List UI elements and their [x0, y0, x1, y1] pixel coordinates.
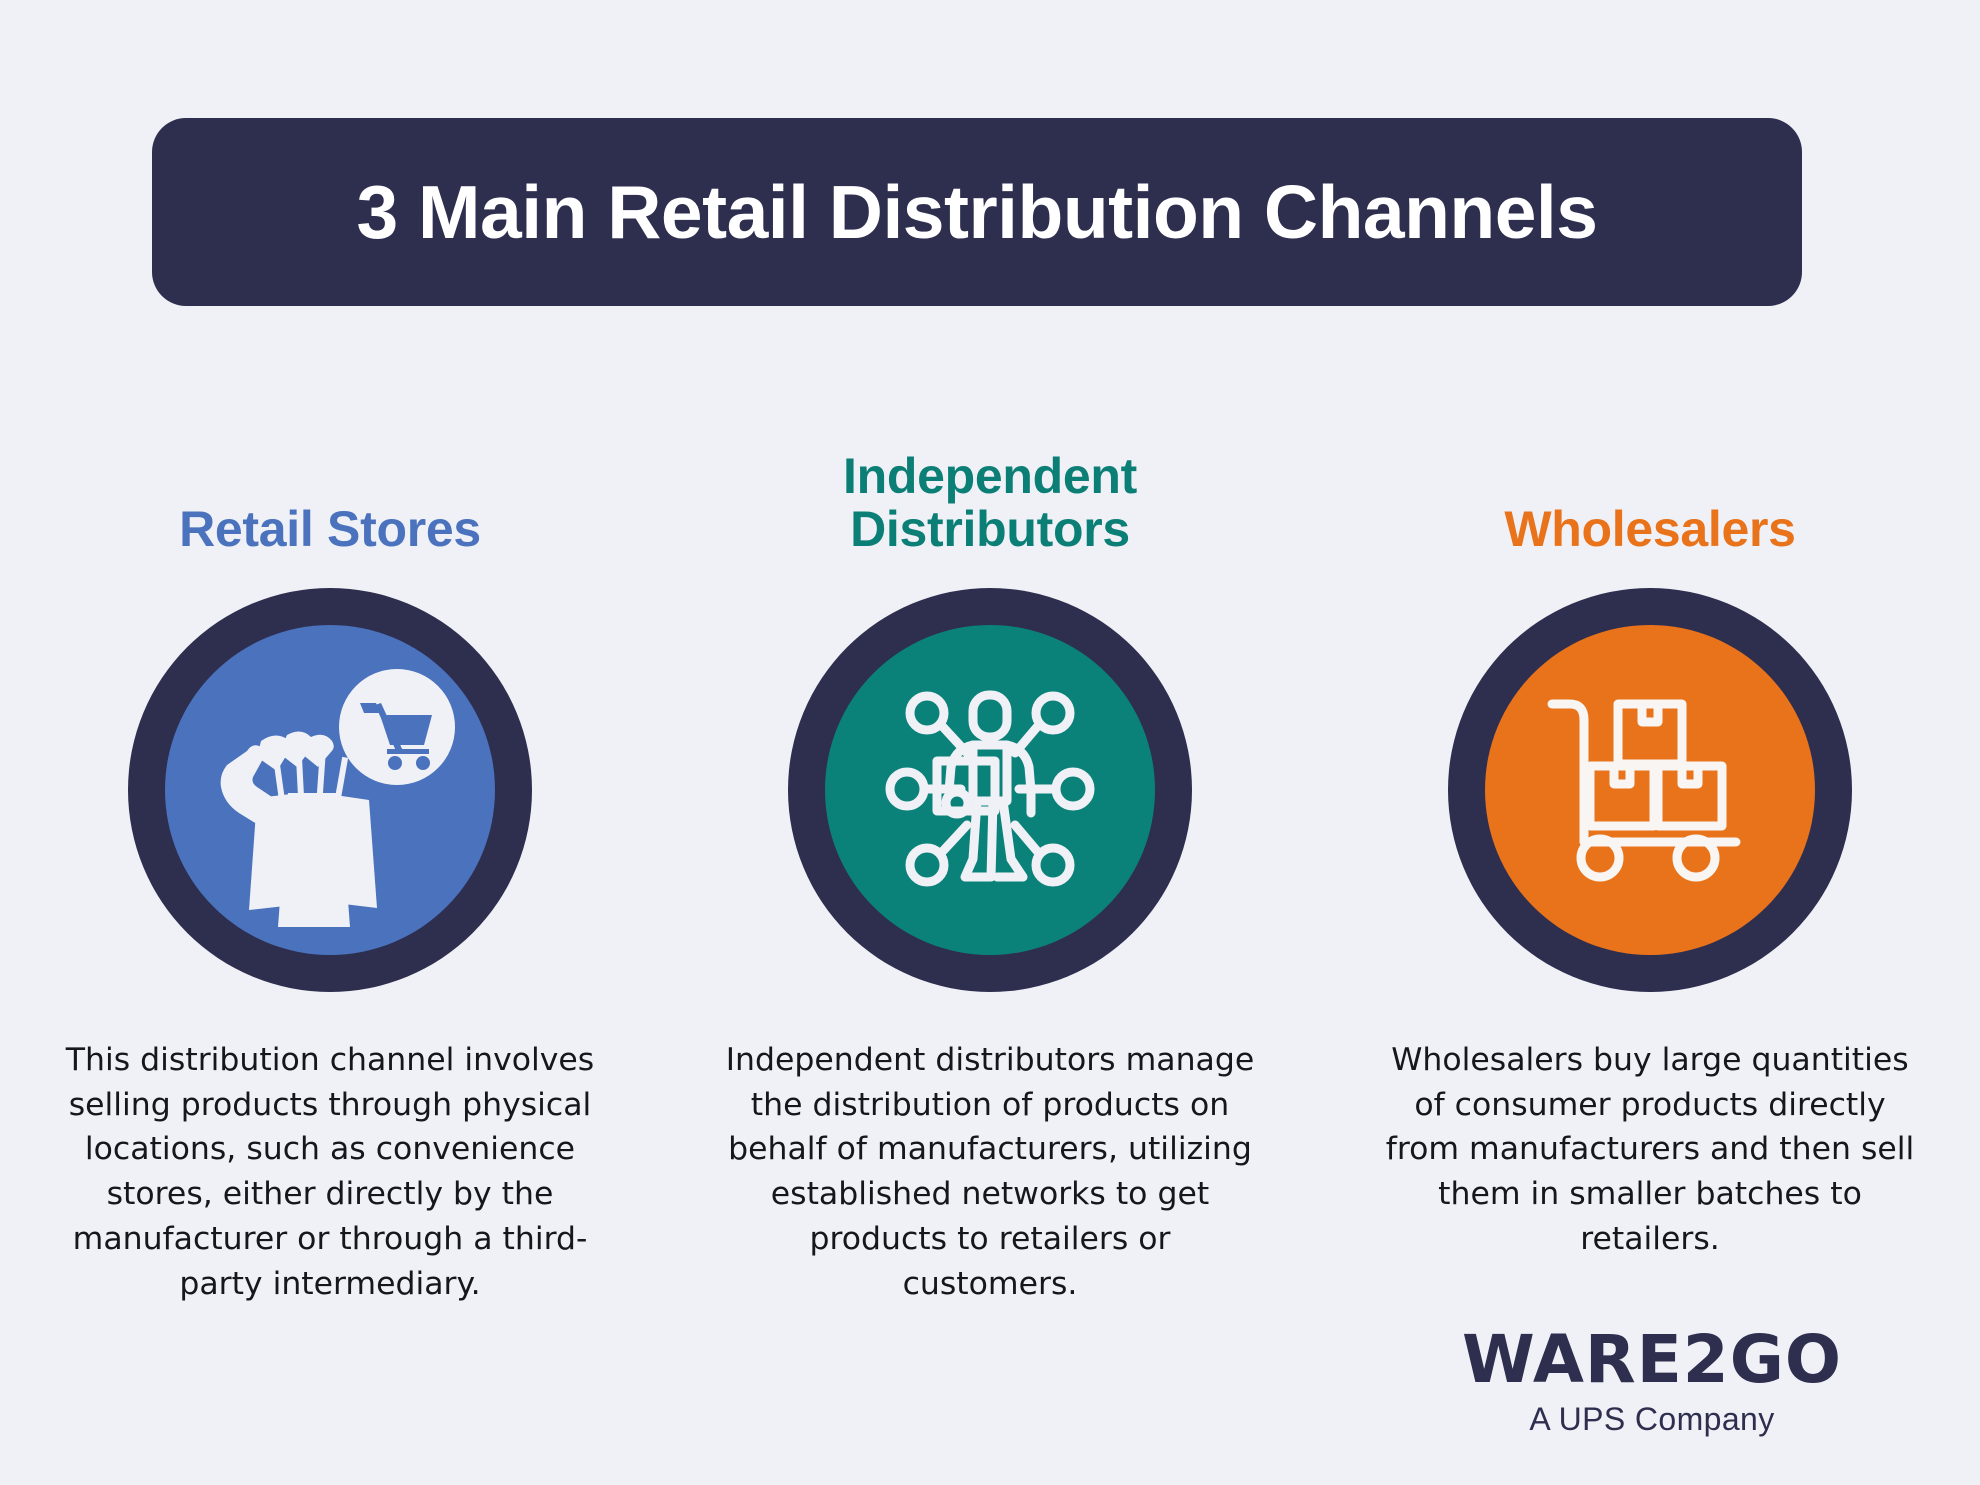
channel-heading-wholesalers: Wholesalers: [1504, 503, 1795, 556]
icon-badge-fill-retail-stores: [165, 625, 495, 955]
hand-cart-with-boxes-icon: [1520, 660, 1780, 920]
heading-wrap-wholesalers: Wholesalers: [1320, 390, 1980, 560]
channel-column-independent-distributors: Independent Distributors: [660, 390, 1320, 1306]
channel-column-retail-stores: Retail Stores: [0, 390, 660, 1306]
icon-badge-fill-wholesalers: [1485, 625, 1815, 955]
channel-heading-retail-stores: Retail Stores: [179, 503, 481, 556]
logo-wordmark: WARE2GO: [1442, 1327, 1862, 1393]
channel-description-retail-stores: This distribution channel involves selli…: [60, 1038, 600, 1306]
title-banner: 3 Main Retail Distribution Channels: [152, 118, 1802, 306]
ware2go-logo: WARE2GO A UPS Company: [1442, 1327, 1862, 1435]
icon-badge-retail-stores: [128, 588, 532, 992]
page-title: 3 Main Retail Distribution Channels: [357, 175, 1598, 250]
icon-badge-wholesalers: [1448, 588, 1852, 992]
icon-badge-fill-independent-distributors: [825, 625, 1155, 955]
channel-description-wholesalers: Wholesalers buy large quantities of cons…: [1380, 1038, 1920, 1262]
channel-description-independent-distributors: Independent distributors manage the dist…: [720, 1038, 1260, 1306]
channel-column-wholesalers: Wholesalers: [1320, 390, 1980, 1262]
logo-tagline: A UPS Company: [1442, 1403, 1862, 1435]
distributor-network-person-icon: [865, 665, 1115, 915]
channel-heading-independent-distributors: Independent Distributors: [843, 450, 1137, 556]
icon-badge-independent-distributors: [788, 588, 1192, 992]
heading-wrap-independent-distributors: Independent Distributors: [660, 390, 1320, 560]
hand-holding-shopping-bags-icon: [175, 635, 485, 945]
channel-columns: Retail Stores: [0, 390, 1980, 1306]
heading-wrap-retail-stores: Retail Stores: [0, 390, 660, 560]
